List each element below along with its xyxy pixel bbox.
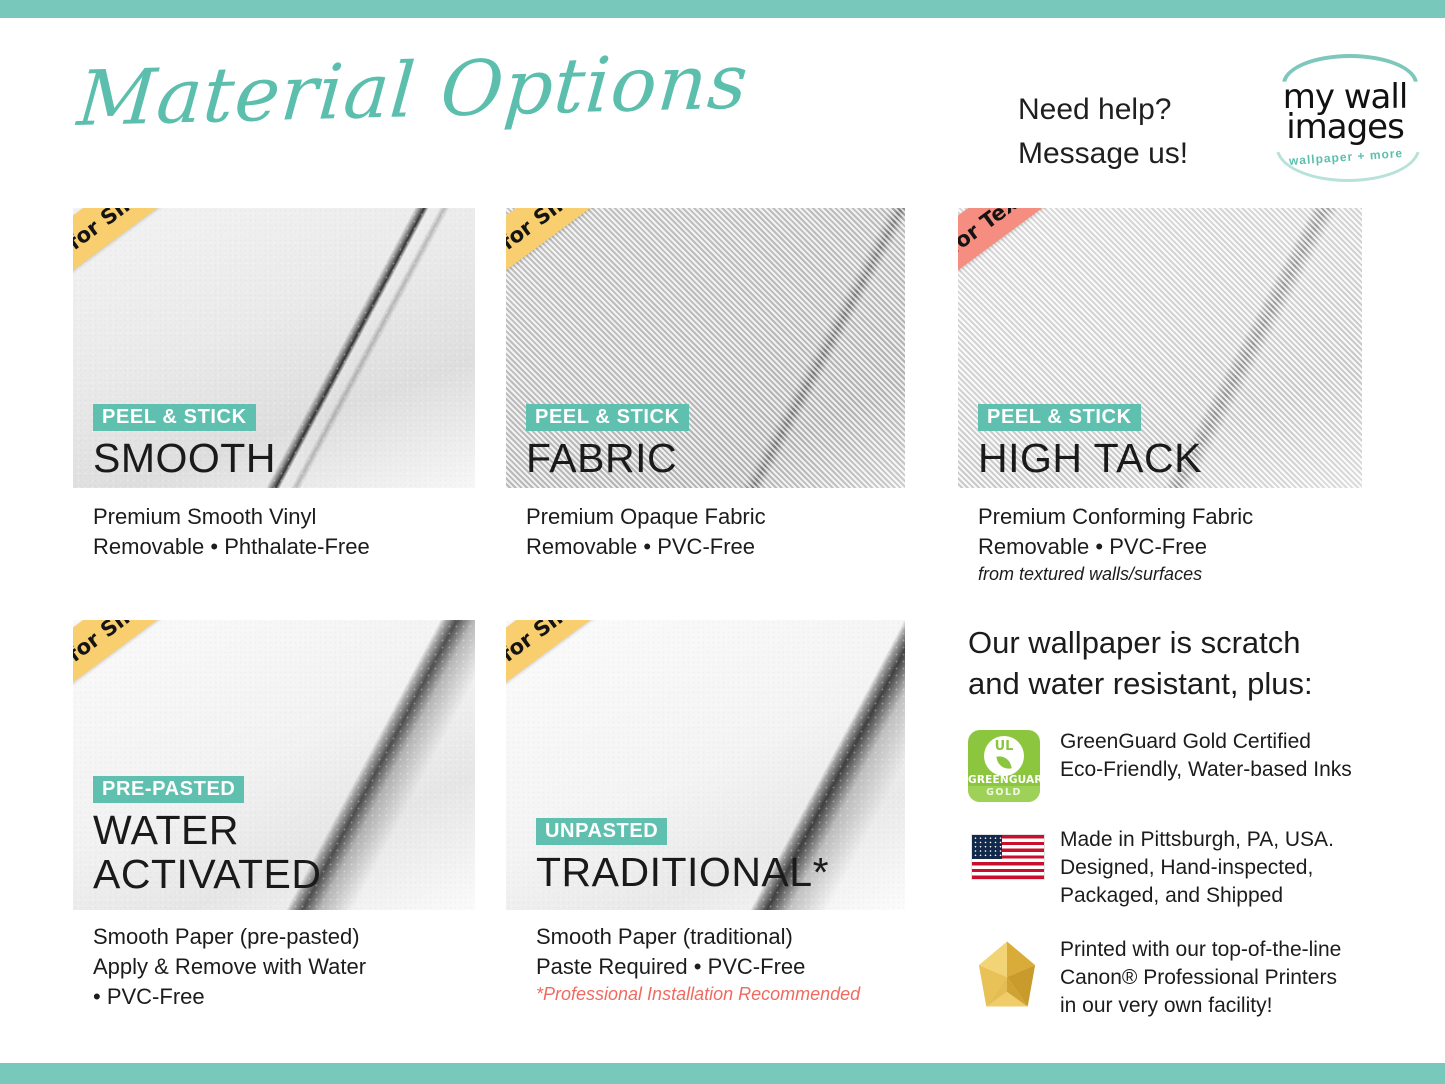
logo-tagline-wrap: wallpaper + more	[1284, 142, 1408, 176]
benefit-made-in-usa: Made in Pittsburgh, PA, USA. Designed, H…	[968, 828, 1388, 928]
adhesion-badge: PEEL & STICK	[526, 404, 689, 431]
material-photo-high-tack: for Textured Walls PEEL & STICK HIGH TAC…	[958, 208, 1362, 488]
page-title: Material Options	[74, 37, 751, 143]
ul-label: UL	[984, 737, 1024, 757]
need-help-text: Need help? Message us!	[1018, 88, 1238, 176]
page-header: Material Options Need help? Message us! …	[0, 18, 1445, 190]
material-card-water-activated[interactable]: for Smooth Walls PRE-PASTED WATER ACTIVA…	[73, 620, 475, 1010]
material-photo-smooth: for Smooth Walls PEEL & STICK SMOOTH	[73, 208, 475, 488]
material-title: WATER ACTIVATED	[93, 808, 322, 896]
material-title: TRADITIONAL*	[536, 850, 829, 894]
material-title: HIGH TACK	[978, 436, 1202, 480]
gold-star-icon	[970, 938, 1044, 1010]
material-card-smooth[interactable]: for Smooth Walls PEEL & STICK SMOOTH Pre…	[73, 208, 475, 553]
adhesion-badge: UNPASTED	[536, 818, 667, 845]
brand-logo: my wall images wallpaper + more	[1272, 54, 1418, 172]
material-photo-traditional: for Smooth Walls UNPASTED TRADITIONAL*	[506, 620, 905, 910]
material-card-high-tack[interactable]: for Textured Walls PEEL & STICK HIGH TAC…	[958, 208, 1362, 583]
material-note: from textured walls/surfaces	[978, 562, 1378, 586]
material-description: Premium Conforming Fabric Removable • PV…	[978, 502, 1378, 562]
flag-stars-shape	[972, 835, 1002, 859]
benefit-canon-printers: Printed with our top-of-the-line Canon® …	[968, 938, 1388, 1038]
wall-type-ribbon: for Textured Walls	[958, 208, 1170, 292]
benefit-text: Printed with our top-of-the-line Canon® …	[1060, 936, 1400, 1020]
wall-type-ribbon-label: for Smooth Walls	[506, 208, 712, 284]
adhesion-badge: PEEL & STICK	[93, 404, 256, 431]
benefit-text: GreenGuard Gold Certified Eco-Friendly, …	[1060, 728, 1400, 784]
logo-tagline: wallpaper + more	[1284, 146, 1409, 169]
wall-type-ribbon-label: for Textured Walls	[958, 208, 1164, 284]
adhesion-badge: PRE-PASTED	[93, 776, 244, 803]
material-description: Smooth Paper (traditional) Paste Require…	[536, 922, 926, 982]
material-title: SMOOTH	[93, 436, 276, 480]
logo-line-2: images	[1272, 110, 1418, 144]
material-photo-water-activated: for Smooth Walls PRE-PASTED WATER ACTIVA…	[73, 620, 475, 910]
bottom-accent-bar	[0, 1063, 1445, 1084]
adhesion-badge: PEEL & STICK	[978, 404, 1141, 431]
material-title: FABRIC	[526, 436, 677, 480]
material-description: Premium Smooth Vinyl Removable • Phthala…	[93, 502, 483, 562]
benefit-greenguard: UL GREENGUARD GOLD GreenGuard Gold Certi…	[968, 730, 1388, 808]
top-accent-bar	[0, 0, 1445, 18]
gold-label: GOLD	[968, 787, 1040, 798]
benefits-heading: Our wallpaper is scratch and water resis…	[968, 622, 1388, 704]
us-flag-icon	[971, 834, 1045, 880]
material-card-traditional[interactable]: for Smooth Walls UNPASTED TRADITIONAL* S…	[506, 620, 905, 1010]
material-description: Smooth Paper (pre-pasted) Apply & Remove…	[93, 922, 488, 1012]
greenguard-label: GREENGUARD	[968, 774, 1040, 786]
benefit-text: Made in Pittsburgh, PA, USA. Designed, H…	[1060, 826, 1400, 910]
material-card-fabric[interactable]: for Smooth Walls PEEL & STICK FABRIC Pre…	[506, 208, 905, 553]
material-description: Premium Opaque Fabric Removable • PVC-Fr…	[526, 502, 916, 562]
greenguard-gold-icon: UL GREENGUARD GOLD	[968, 730, 1040, 802]
wall-type-ribbon: for Smooth Walls	[506, 208, 718, 292]
material-photo-fabric: for Smooth Walls PEEL & STICK FABRIC	[506, 208, 905, 488]
material-note: *Professional Installation Recommended	[536, 982, 926, 1006]
